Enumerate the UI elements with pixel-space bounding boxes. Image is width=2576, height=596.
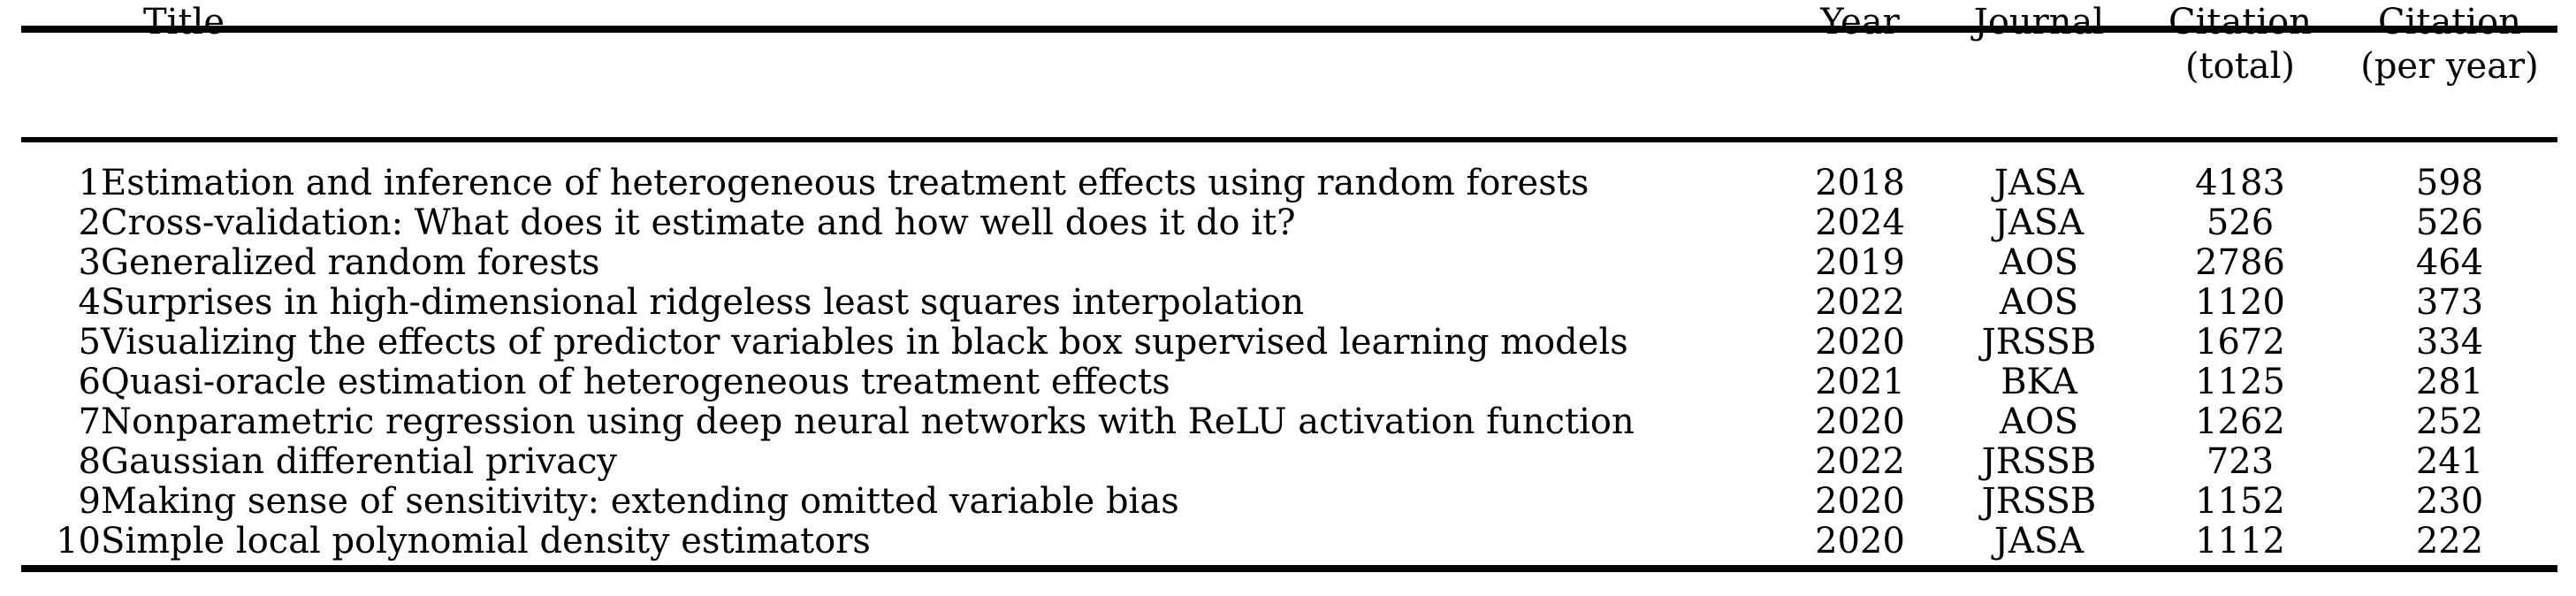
cell-year: 2022 (1780, 283, 1940, 323)
cell-citation-peryear: 241 (2342, 442, 2557, 482)
table-row: 6Quasi-oracle estimation of heterogeneou… (21, 363, 2557, 402)
table-row: 1Estimation and inference of heterogeneo… (21, 137, 2557, 203)
table-row: 2Cross-validation: What does it estimate… (21, 203, 2557, 243)
cell-citation-total: 526 (2138, 203, 2342, 243)
cell-citation-total: 1152 (2138, 482, 2342, 522)
cell-journal: AOS (1940, 283, 2138, 323)
cell-citation-peryear: 526 (2342, 203, 2557, 243)
citation-table: Title Year Journal Citation (tot (21, 0, 2557, 562)
cell-journal: AOS (1940, 243, 2138, 283)
cell-journal: BKA (1940, 363, 2138, 402)
cell-year: 2019 (1780, 243, 1940, 283)
cell-citation-total: 1262 (2138, 402, 2342, 442)
cell-title: Generalized random forests (101, 243, 1780, 283)
cell-citation-peryear: 222 (2342, 522, 2557, 562)
cell-index: 6 (21, 363, 101, 402)
cell-title: Estimation and inference of heterogeneou… (101, 137, 1780, 203)
cell-citation-peryear: 334 (2342, 323, 2557, 363)
cell-index: 3 (21, 243, 101, 283)
cell-citation-peryear: 373 (2342, 283, 2557, 323)
table-bottom-rule (21, 565, 2557, 572)
cell-journal: AOS (1940, 402, 2138, 442)
table-row: 3Generalized random forests2019AOS278646… (21, 243, 2557, 283)
cell-journal: JRSSB (1940, 482, 2138, 522)
cell-index: 5 (21, 323, 101, 363)
column-header-citation-total-line1: Citation (2138, 0, 2342, 44)
cell-journal: JASA (1940, 137, 2138, 203)
column-header-citation-peryear-line1: Citation (2342, 0, 2557, 44)
column-header-journal: Journal (1940, 0, 2138, 137)
column-header-citation-total: Citation (total) (2138, 0, 2342, 137)
cell-index: 1 (21, 137, 101, 203)
table-row: 5Visualizing the effects of predictor va… (21, 323, 2557, 363)
column-header-index (21, 0, 101, 137)
table-header: Title Year Journal Citation (tot (21, 0, 2557, 137)
cell-year: 2021 (1780, 363, 1940, 402)
cell-title: Visualizing the effects of predictor var… (101, 323, 1780, 363)
cell-citation-total: 4183 (2138, 137, 2342, 203)
cell-citation-peryear: 598 (2342, 137, 2557, 203)
column-header-citation-peryear-line2: (per year) (2342, 44, 2557, 88)
cell-year: 2022 (1780, 442, 1940, 482)
cell-citation-total: 1125 (2138, 363, 2342, 402)
table-row: 10Simple local polynomial density estima… (21, 522, 2557, 562)
column-header-citation-peryear: Citation (per year) (2342, 0, 2557, 137)
cell-citation-peryear: 252 (2342, 402, 2557, 442)
cell-citation-total: 2786 (2138, 243, 2342, 283)
cell-title: Quasi-oracle estimation of heterogeneous… (101, 363, 1780, 402)
column-header-year: Year (1780, 0, 1940, 137)
cell-citation-total: 1112 (2138, 522, 2342, 562)
table-row: 7Nonparametric regression using deep neu… (21, 402, 2557, 442)
cell-index: 7 (21, 402, 101, 442)
cell-citation-peryear: 464 (2342, 243, 2557, 283)
table-row: 9Making sense of sensitivity: extending … (21, 482, 2557, 522)
cell-year: 2024 (1780, 203, 1940, 243)
cell-citation-peryear: 281 (2342, 363, 2557, 402)
cell-journal: JRSSB (1940, 323, 2138, 363)
cell-index: 2 (21, 203, 101, 243)
cell-year: 2020 (1780, 323, 1940, 363)
cell-title: Cross-validation: What does it estimate … (101, 203, 1780, 243)
cell-journal: JRSSB (1940, 442, 2138, 482)
cell-title: Making sense of sensitivity: extending o… (101, 482, 1780, 522)
cell-journal: JASA (1940, 522, 2138, 562)
column-header-citation-total-line2: (total) (2138, 44, 2342, 88)
cell-index: 9 (21, 482, 101, 522)
cell-citation-total: 1672 (2138, 323, 2342, 363)
cell-journal: JASA (1940, 203, 2138, 243)
cell-title: Surprises in high-dimensional ridgeless … (101, 283, 1780, 323)
cell-title: Simple local polynomial density estimato… (101, 522, 1780, 562)
cell-citation-total: 723 (2138, 442, 2342, 482)
cell-index: 10 (21, 522, 101, 562)
column-header-journal-line1: Journal (1940, 0, 2138, 44)
cell-citation-total: 1120 (2138, 283, 2342, 323)
column-header-title: Title (101, 0, 1780, 137)
cell-year: 2020 (1780, 402, 1940, 442)
table-body: 1Estimation and inference of heterogeneo… (21, 137, 2557, 562)
table-sheet: Title Year Journal Citation (tot (0, 0, 2576, 596)
table-row: 4Surprises in high-dimensional ridgeless… (21, 283, 2557, 323)
column-header-year-line1: Year (1780, 0, 1940, 44)
cell-citation-peryear: 230 (2342, 482, 2557, 522)
table-row: 8Gaussian differential privacy2022JRSSB7… (21, 442, 2557, 482)
cell-year: 2018 (1780, 137, 1940, 203)
cell-index: 4 (21, 283, 101, 323)
cell-year: 2020 (1780, 482, 1940, 522)
cell-title: Gaussian differential privacy (101, 442, 1780, 482)
table-header-row: Title Year Journal Citation (tot (21, 0, 2557, 137)
cell-title: Nonparametric regression using deep neur… (101, 402, 1780, 442)
cell-index: 8 (21, 442, 101, 482)
cell-year: 2020 (1780, 522, 1940, 562)
column-header-title-line1: Title (143, 0, 1780, 44)
